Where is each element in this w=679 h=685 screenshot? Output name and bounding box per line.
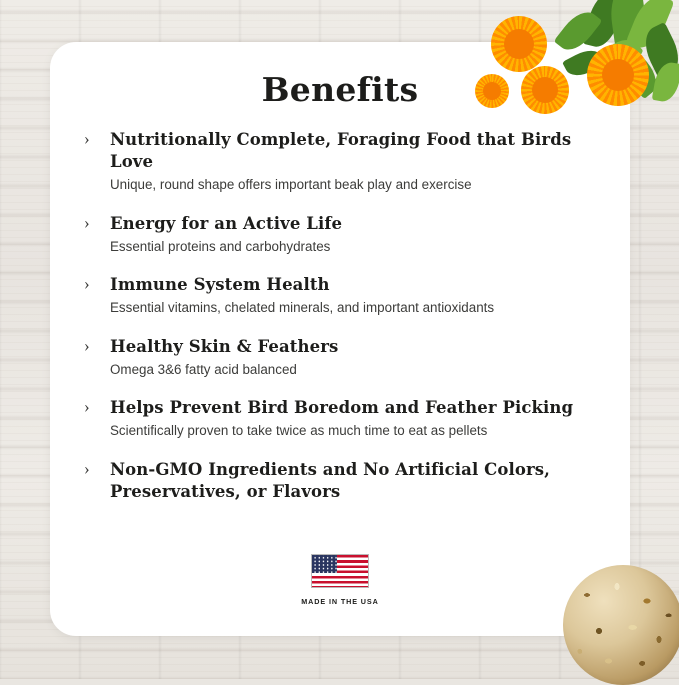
- made-in-usa-badge: MADE IN THE USA: [50, 554, 630, 606]
- flower-icon: [587, 44, 649, 106]
- usa-flag-icon: [311, 554, 369, 588]
- benefit-subtext: Scientifically proven to take twice as m…: [110, 422, 600, 439]
- chevron-right-icon: ›: [84, 398, 90, 415]
- benefit-subtext: Omega 3&6 fatty acid balanced: [110, 361, 600, 378]
- chevron-right-icon: ›: [84, 214, 90, 231]
- list-item: › Non-GMO Ingredients and No Artificial …: [50, 459, 630, 503]
- benefit-subtext: Unique, round shape offers important bea…: [110, 176, 600, 193]
- flower-icon: [491, 16, 547, 72]
- list-item: › Energy for an Active Life Essential pr…: [50, 213, 630, 256]
- made-in-usa-caption: MADE IN THE USA: [50, 597, 630, 606]
- safflower-bouquet-image: [469, 0, 679, 150]
- benefit-heading: Non-GMO Ingredients and No Artificial Co…: [110, 459, 600, 503]
- benefit-subtext: Essential vitamins, chelated minerals, a…: [110, 299, 600, 316]
- flower-icon: [521, 66, 569, 114]
- list-item: › Helps Prevent Bird Boredom and Feather…: [50, 397, 630, 440]
- chevron-right-icon: ›: [84, 337, 90, 354]
- list-item: › Healthy Skin & Feathers Omega 3&6 fatt…: [50, 336, 630, 379]
- chevron-right-icon: ›: [84, 275, 90, 292]
- benefit-subtext: Essential proteins and carbohydrates: [110, 238, 600, 255]
- chevron-right-icon: ›: [84, 460, 90, 477]
- seed-ball-image: [563, 565, 679, 685]
- benefit-heading: Healthy Skin & Feathers: [110, 336, 600, 358]
- benefit-heading: Immune System Health: [110, 274, 600, 296]
- flower-icon: [475, 74, 509, 108]
- benefit-heading: Helps Prevent Bird Boredom and Feather P…: [110, 397, 600, 419]
- chevron-right-icon: ›: [84, 130, 90, 147]
- list-item: › Immune System Health Essential vitamin…: [50, 274, 630, 317]
- flag-canton: [312, 555, 337, 573]
- benefits-list: › Nutritionally Complete, Foraging Food …: [50, 129, 630, 503]
- benefit-heading: Energy for an Active Life: [110, 213, 600, 235]
